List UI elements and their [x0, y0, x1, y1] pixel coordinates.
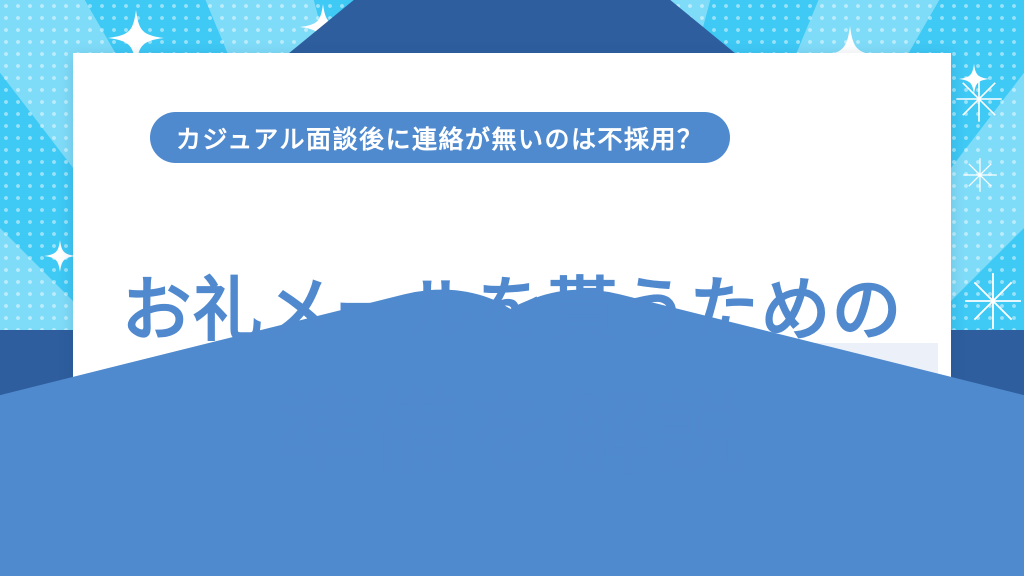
headline-line-1: お礼メールを貰うための — [73, 275, 951, 345]
subtitle-badge-label: カジュアル面談後に連絡が無いのは不採用？ — [176, 120, 704, 156]
poster-canvas: カジュアル面談後に連絡が無いのは不採用？ お礼メールを貰うための 準備を解説 あ… — [0, 0, 1024, 576]
headline-line-2: 準備を解説 — [73, 388, 951, 480]
content-card: カジュアル面談後に連絡が無いのは不採用？ お礼メールを貰うための 準備を解説 あ… — [73, 53, 951, 552]
subtitle-badge: カジュアル面談後に連絡が無いのは不採用？ — [150, 112, 730, 163]
